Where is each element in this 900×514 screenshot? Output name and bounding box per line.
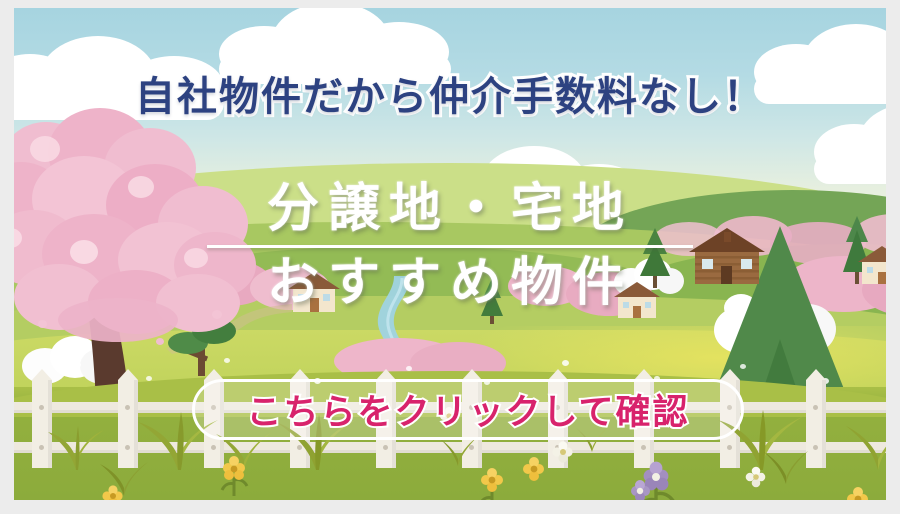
- title-line-secondary: おすすめ物件: [14, 254, 886, 312]
- grass-tuft-8: [762, 444, 810, 484]
- banner-headline: 自社物件だから仲介手数料なし！: [14, 64, 886, 122]
- cta-button-label: こちらをクリックして確認: [247, 384, 690, 435]
- cloud-center: [219, 8, 469, 64]
- white-flower-1: [550, 440, 576, 464]
- title-line-primary: 分譲地・宅地: [14, 180, 886, 238]
- title-divider: [207, 245, 693, 248]
- yellow-flower-5: [100, 484, 126, 500]
- yellow-flower-3: [520, 456, 548, 482]
- white-flower-2: [744, 466, 768, 488]
- yellow-flower-1: [218, 452, 252, 496]
- cta-button[interactable]: こちらをクリックして確認: [192, 379, 744, 440]
- banner-title-block: 分譲地・宅地 おすすめ物件: [14, 180, 886, 312]
- yellow-flower-2: [476, 464, 510, 500]
- promo-banner[interactable]: 自社物件だから仲介手数料なし！ 分譲地・宅地 おすすめ物件 こちらをクリックして…: [14, 8, 886, 500]
- purple-flower-1: [622, 458, 678, 500]
- grass-tuft-7: [842, 416, 886, 470]
- yellow-flower-4: [844, 486, 872, 500]
